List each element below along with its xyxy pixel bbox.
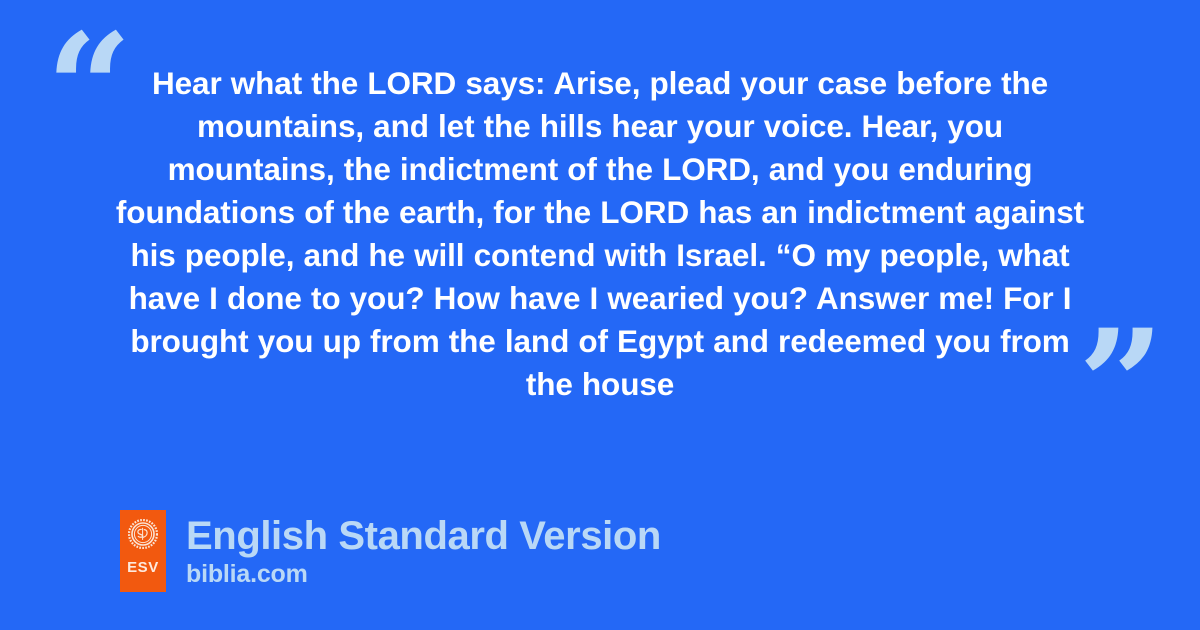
esv-logo-abbreviation: ESV — [127, 560, 159, 575]
attribution-footer: ESV English Standard Version biblia.com — [120, 510, 661, 592]
esv-logo: ESV — [120, 510, 166, 592]
esv-seal-icon — [128, 519, 158, 549]
quote-text: Hear what the LORD says: Arise, plead yo… — [110, 62, 1090, 406]
bible-version-name: English Standard Version — [186, 514, 661, 558]
site-name[interactable]: biblia.com — [186, 560, 661, 588]
closing-quote-icon: ” — [1078, 310, 1162, 460]
attribution-text: English Standard Version biblia.com — [186, 514, 661, 588]
quote-container: Hear what the LORD says: Arise, plead yo… — [110, 62, 1090, 417]
verse-card: “ Hear what the LORD says: Arise, plead … — [0, 0, 1200, 630]
